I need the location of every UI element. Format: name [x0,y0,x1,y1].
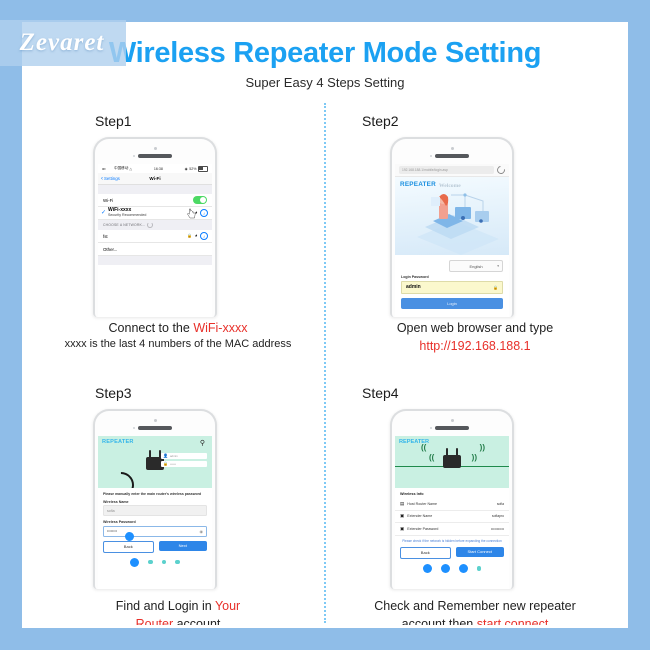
volume-up-button [93,207,94,221]
step-1-cell: Step1 ••••○ 中国移动 △ 16:38 ◉ [33,113,323,371]
ios-status-bar: ••••○ 中国移动 △ 16:38 ◉ 52% [98,164,212,173]
back-label: Settings [104,176,120,181]
chevron-down-icon: ▾ [497,264,499,268]
credential-fields: 👤 admin 🔒 •••••• [161,453,207,469]
back-button[interactable]: Back [103,541,154,553]
wifi-status-icon: △ [129,167,132,171]
wireless-info-title: Wireless Info [395,488,509,498]
progress-dot-active [441,564,450,573]
poster-content: Wireless Repeater Mode Setting Super Eas… [25,25,625,625]
lock-icon: 🔒 [493,285,498,290]
lock-icon: 🔒 [187,234,192,238]
start-connect-button[interactable]: Start Connect [456,547,505,557]
phone-screen-browser-login: 192.168.188.1/mobile/login.asp REPEATER … [395,164,509,317]
form-hint: Please manually enter the main router's … [103,492,207,497]
alarm-icon: ◉ [185,167,188,171]
camera-icon [154,419,157,422]
browser-url-bar[interactable]: 192.168.188.1/mobile/login.asp [395,164,509,177]
connected-network-row[interactable]: ✓ WiFi-xxxx Security Recommended ◕ i [98,207,212,220]
login-button[interactable]: Login [401,298,503,309]
url-input[interactable]: 192.168.188.1/mobile/login.asp [399,166,494,174]
step-4-cell: Step4 REPEATER (( (( )) )) [330,385,620,625]
choose-network-header: CHOOSE A NETWORK... [98,220,212,230]
sensor-dot-icon [430,427,432,429]
row-label: Host Router Name [407,502,437,506]
caption-highlight: Router [136,617,174,625]
other-network-label: Other... [103,247,117,252]
wireless-name-input[interactable]: sofia [103,505,207,516]
caption-line-2: account then start connect [330,615,620,625]
signal-dots-icon: ••••○ [102,166,113,171]
back-button[interactable]: ‹ Settings [101,176,120,182]
row-value: sofia [497,502,504,506]
focus-indicator-dot [125,532,134,541]
row-label: Extender Password [407,527,438,531]
list-bottom-spacer [98,256,212,265]
caption-line-2: Router account [33,615,323,625]
battery-percent: 52% [189,167,196,171]
speaker-grill [138,426,172,430]
power-button [513,469,514,489]
loading-spinner-icon [147,222,153,228]
row-value: sofiapro [492,514,504,518]
network-row-label: fst [103,234,108,239]
wifi-row-label: Wi-Fi [103,198,113,203]
repeater-header-banner: REPEATER ⚲ 👤 admin 🔒 [98,436,212,488]
user-icon: 👤 [163,454,168,458]
step-2-caption: Open web browser and type http://192.168… [330,319,620,355]
username-value: admin [170,454,178,458]
wifi-toggle-switch[interactable] [193,196,207,204]
signal-wave-left-outer-icon: (( [421,444,426,452]
camera-icon [451,147,454,150]
progress-dot [175,560,180,565]
step-2-cell: Step2 192.168.188.1/mobile/login.asp REP… [330,113,620,371]
wireless-name-label: Wireless Name [103,500,207,504]
back-button[interactable]: Back [400,547,451,559]
volume-down-button [390,225,391,239]
page-title: Wireless Repeater Mode Setting [25,37,625,70]
wireless-password-value: •••••••• [107,529,117,533]
volume-up-button [390,479,391,493]
caption-line-1: Connect to the WiFi-xxxx [33,319,323,337]
router-body [443,455,461,468]
caption-line-1: Check and Remember new repeater [330,597,620,615]
row-value: ••••••••••• [491,527,504,531]
checkmark-icon: ✓ [101,210,106,216]
repeater-brand-label: REPEATER [102,439,134,445]
network-row-other[interactable]: Other... [98,243,212,256]
hidden-network-note: Please check if the network is hidden be… [395,536,509,545]
row-icon-group: ◕ i [194,209,208,217]
camera-icon [451,419,454,422]
caption-line-1: Find and Login in Your [33,597,323,615]
extender-icon: ▣ [400,514,404,519]
poster-frame: Wireless Repeater Mode Setting Super Eas… [22,22,628,628]
wireless-password-input[interactable]: •••••••• ◉ [103,526,207,537]
password-field[interactable]: 🔒 •••••• [161,461,207,467]
signal-wave-right-inner-icon: )) [472,454,477,462]
caption-highlight: WiFi-xxxx [193,321,247,335]
battery-icon [198,166,208,172]
column-divider [324,103,326,623]
step-progress-dots [395,564,509,573]
extender-icon: ▣ [400,527,404,532]
form-buttons: Back Start Connect [395,547,509,559]
language-select[interactable]: English ▾ [449,260,503,272]
wireless-setup-form: Please manually enter the main router's … [98,488,212,571]
caption-line-1: Open web browser and type [330,319,620,337]
login-form: English ▾ Login Password admin 🔒 Login [395,255,509,309]
volume-up-button [390,207,391,221]
language-row: English ▾ [401,260,503,272]
carrier-area: ••••○ 中国移动 △ [102,166,132,171]
username-field[interactable]: 👤 admin [161,453,207,459]
repeater-header-banner: REPEATER (( (( )) )) [395,436,509,488]
progress-dot [477,566,482,571]
step-4-caption: Check and Remember new repeater account … [330,597,620,625]
caption-text: Find and Login in [116,599,215,613]
chevron-left-icon: ‹ [101,176,103,182]
volume-down-button [93,497,94,511]
caption-highlight: Your [215,599,240,613]
password-value: •••••• [170,462,176,466]
wireless-info-panel: Wireless Info ▤ Host Router Name sofia ▣… [395,488,509,573]
step-progress-dots [103,558,207,567]
progress-dot-active [130,558,139,567]
network-row-fst[interactable]: fst 🔒 ◕ i [98,230,212,243]
caption-line-2: http://192.168.188.1 [330,337,620,355]
wifi-toggle-row[interactable]: Wi-Fi [98,194,212,207]
lock-icon: 🔒 [163,462,168,466]
info-icon[interactable]: i [200,232,208,240]
network-security-note: Security Recommended [108,214,146,218]
next-button[interactable]: Next [159,541,208,551]
speaker-grill [435,426,469,430]
mute-switch [93,463,94,473]
caption-text: account [173,617,220,625]
caption-line-2: xxxx is the last 4 numbers of the MAC ad… [33,337,323,353]
language-value: English [469,264,482,269]
phone-screen-router-login: REPEATER ⚲ 👤 admin 🔒 [98,436,212,589]
phone-mockup-step1: ••••○ 中国移动 △ 16:38 ◉ 52% ‹ Settings [93,137,217,317]
step-3-label: Step3 [95,385,132,401]
ios-nav-bar: ‹ Settings Wi-Fi [98,173,212,185]
progress-dot-active [423,564,432,573]
power-button [216,197,217,217]
hand-cursor-icon [187,208,196,219]
phone-screen-wifi-settings: ••••○ 中国移动 △ 16:38 ◉ 52% ‹ Settings [98,164,212,317]
battery-area: ◉ 52% [185,166,208,172]
signal-wave-left-inner-icon: (( [429,454,434,462]
mute-switch [390,463,391,473]
caption-text: account then [402,617,477,625]
progress-dot [162,560,167,565]
sensor-dot-icon [133,427,135,429]
mute-switch [93,191,94,201]
phone-mockup-step4: REPEATER (( (( )) )) Wireless Info [390,409,514,589]
mute-switch [390,191,391,201]
welcome-label: Welcome [439,183,461,189]
network-text-block: WiFi-xxxx Security Recommended [108,208,146,217]
choose-network-label: CHOOSE A NETWORK... [103,223,145,227]
table-row: ▤ Host Router Name sofia [395,498,509,511]
decorative-arc [103,467,140,488]
speaker-grill [138,154,172,158]
login-hero-banner: REPEATER Welcome [395,177,509,255]
table-row: ▣ Extender Name sofiapro [395,511,509,524]
row-icon-group: 🔒 ◕ i [187,232,208,240]
repeater-brand-label: REPEATER [400,181,436,188]
eye-icon[interactable]: ◉ [200,529,204,534]
step-3-caption: Find and Login in Your Router account [33,597,323,625]
phone-mockup-step3: REPEATER ⚲ 👤 admin 🔒 [93,409,217,589]
router-icon: ▤ [400,502,404,507]
volume-down-button [390,497,391,511]
wireless-password-label: Wireless Password [103,520,207,524]
login-password-value: admin [406,284,421,290]
page-subtitle: Super Easy 4 Steps Setting [25,75,625,90]
speaker-grill [435,154,469,158]
table-row: ▣ Extender Password ••••••••••• [395,523,509,536]
login-password-input[interactable]: admin 🔒 [401,281,503,294]
status-time: 16:38 [154,167,163,171]
phone-mockup-step2: 192.168.188.1/mobile/login.asp REPEATER … [390,137,514,317]
sensor-dot-icon [133,155,135,157]
step-1-label: Step1 [95,113,132,129]
login-password-label: Login Password [401,275,503,279]
carrier-name: 中国移动 [114,166,128,171]
camera-icon [154,147,157,150]
form-buttons: Back Next [103,541,207,553]
power-button [216,469,217,489]
step-2-label: Step2 [362,113,399,129]
signal-wave-right-outer-icon: )) [480,444,485,452]
volume-down-button [93,225,94,239]
reload-icon[interactable] [495,164,506,175]
step-4-label: Step4 [362,385,399,401]
row-label: Extender Name [407,514,432,518]
router-device-icon [443,448,461,468]
power-button [513,197,514,217]
wifi-signal-icon: ◕ [194,234,197,239]
list-spacer [98,185,212,194]
step-1-caption: Connect to the WiFi-xxxx xxxx is the las… [33,319,323,353]
caption-text: Connect to the [109,321,194,335]
progress-dot-active [459,564,468,573]
info-icon[interactable]: i [200,209,208,217]
progress-dot [148,560,153,565]
key-icon: ⚲ [200,439,205,447]
phone-screen-wireless-info: REPEATER (( (( )) )) Wireless Info [395,436,509,589]
caption-highlight: start connect [477,617,549,625]
sensor-dot-icon [430,155,432,157]
volume-up-button [93,479,94,493]
step-3-cell: Step3 REPEATER ⚲ [33,385,323,625]
